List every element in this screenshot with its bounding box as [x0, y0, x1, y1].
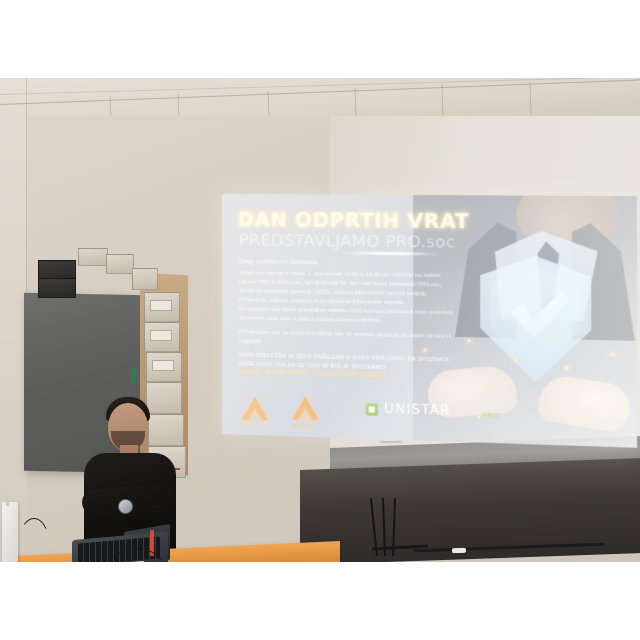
astec-logo-small-caption: astec d.o.o. [236, 420, 267, 427]
unistar-logo-text: UNISTAR [384, 402, 450, 419]
green-marker [131, 367, 136, 384]
astec-logo-cut [298, 407, 312, 420]
box-label [150, 330, 172, 341]
projected-slide: DAN ODPRTIH VRAT PREDSTAVLJAMO PRO.soc D… [222, 194, 637, 448]
letterbox-bottom [0, 562, 640, 640]
box-label [152, 360, 174, 371]
slide-subtitle: PREDSTAVLJAMO PRO.soc [239, 230, 496, 252]
cardboard-box [132, 268, 158, 290]
dark-box [38, 278, 76, 298]
screenshot-root: DAN ODPRTIH VRAT PREDSTAVLJAMO PRO.soc D… [0, 0, 640, 640]
white-router-device [2, 502, 18, 562]
small-desk-item [452, 548, 466, 553]
slide-paragraph-3: Pričakujemo vas na recepciji podjetja, k… [239, 328, 454, 351]
letterbox-top [0, 0, 640, 78]
box-label [150, 300, 172, 311]
photograph: DAN ODPRTIH VRAT PREDSTAVLJAMO PRO.soc D… [0, 78, 640, 562]
open-hand-right [537, 372, 634, 434]
slide-paragraph-1: Veseli nas, da vas v sredo, 1. marca med… [239, 269, 454, 309]
cardboard-box [78, 248, 108, 266]
astec-logo-small-cut [248, 408, 262, 420]
unistar-logo-mark [366, 403, 378, 416]
slide-paragraph-2: Po skupnem vas bomo popeljali po oddelku… [239, 305, 454, 328]
slide-logo-row: astec d.o.o. astec UNISTAR PRO [230, 392, 518, 437]
left-wall-return [0, 108, 27, 528]
slide-greeting: Dragi sodelavci in sodelavke, [239, 258, 320, 266]
ceiling [0, 78, 640, 120]
title-underline [341, 251, 440, 255]
astec-logo-caption: astec [292, 421, 313, 431]
router-antenna [6, 494, 9, 506]
wristwatch [118, 499, 133, 514]
cardboard-box [106, 254, 134, 274]
unistar-pro-suffix: PRO [481, 412, 499, 421]
